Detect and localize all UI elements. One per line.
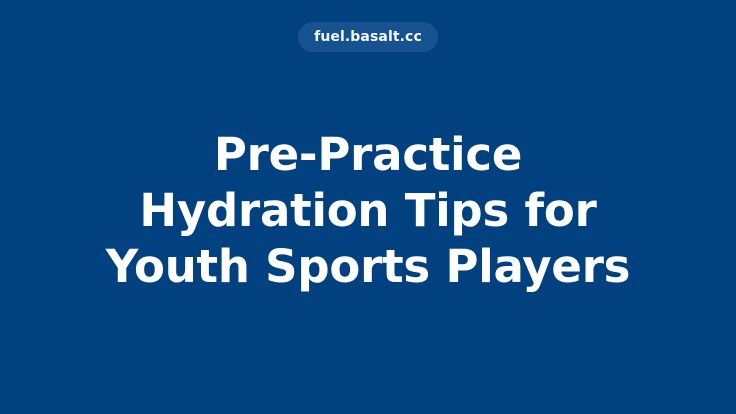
social-share-card: fuel.basalt.cc Pre-Practice Hydration Ti…: [0, 0, 736, 414]
page-title-line-3: Youth Sports Players: [106, 239, 631, 295]
page-title: Pre-Practice Hydration Tips for Youth Sp…: [106, 127, 631, 295]
title-block: Pre-Practice Hydration Tips for Youth Sp…: [0, 0, 736, 414]
page-title-line-2: Hydration Tips for: [106, 183, 631, 239]
page-title-line-1: Pre-Practice: [106, 127, 631, 183]
